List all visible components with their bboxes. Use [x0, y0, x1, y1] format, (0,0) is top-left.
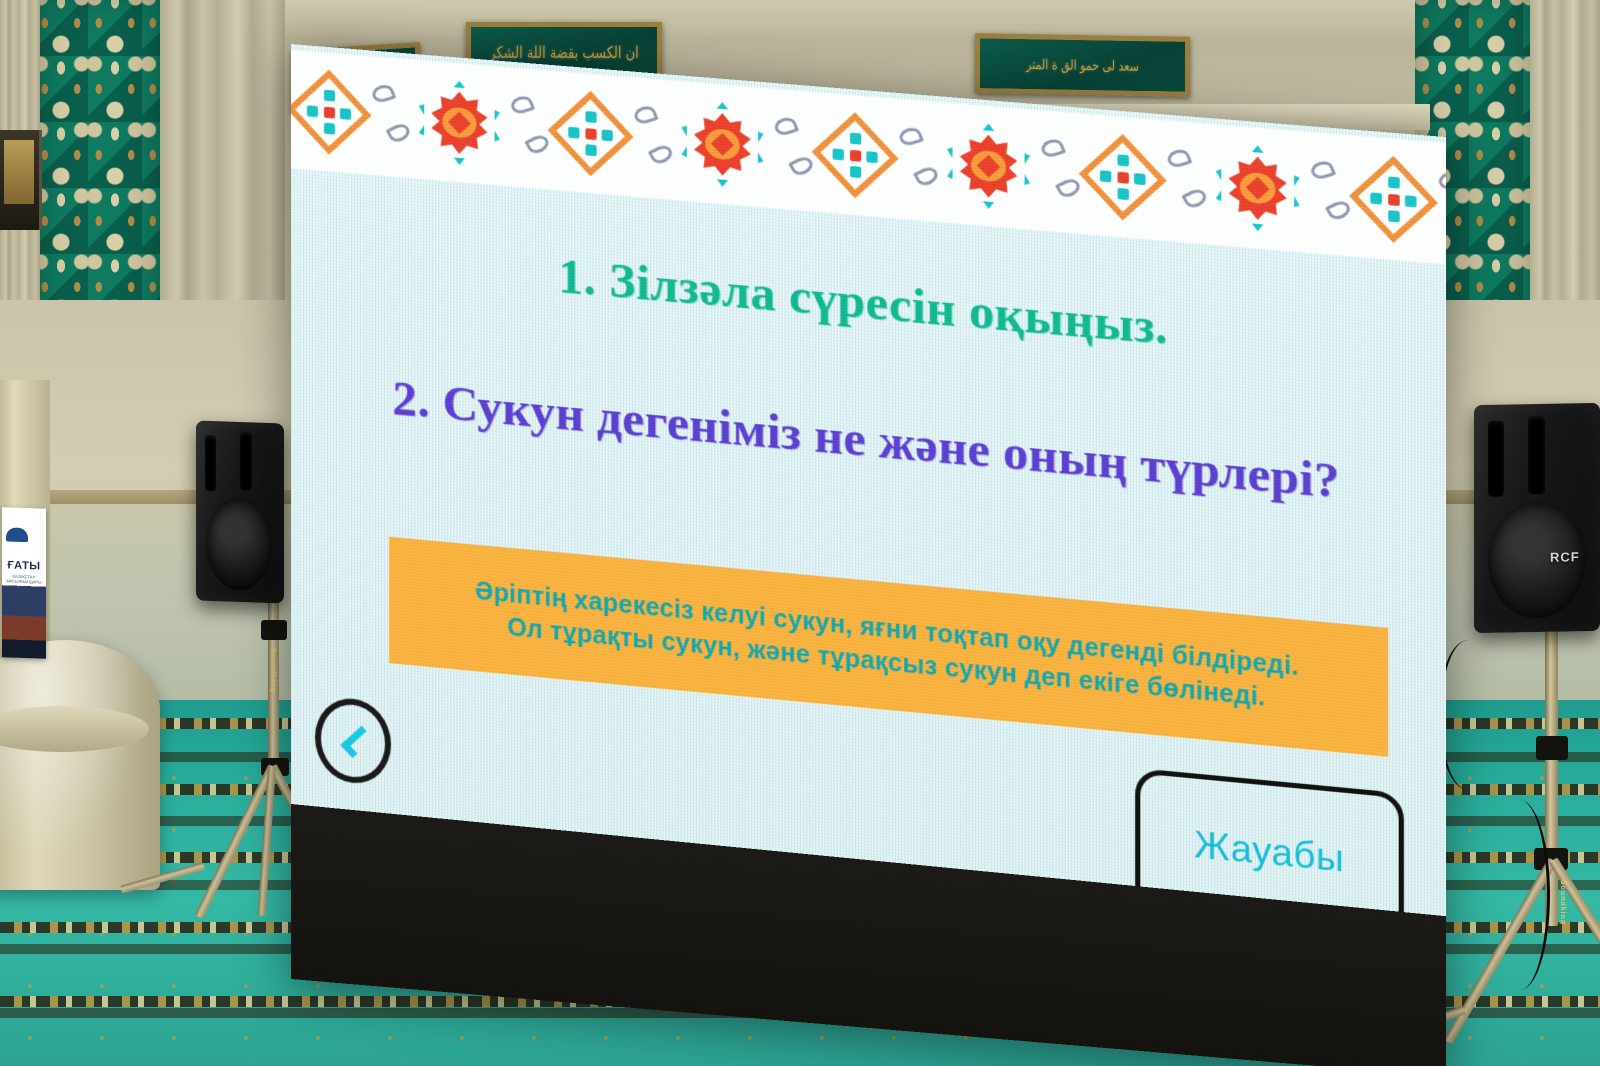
marble-column-base [0, 640, 160, 890]
speaker-port [1488, 421, 1504, 497]
diamond-dot [306, 105, 317, 117]
stand-clamp [1536, 736, 1568, 760]
diamond-dot [1134, 173, 1145, 185]
banner-title: ҒАТЫ [2, 559, 46, 573]
stand-brand-label: Soundking [1559, 880, 1566, 925]
speaker-cable [1490, 800, 1550, 990]
diamond-dot [584, 111, 595, 123]
filler-motif [770, 109, 815, 192]
diamond-dot [584, 144, 595, 156]
diamond-ornament [818, 116, 892, 195]
ornament-group [1083, 129, 1353, 241]
diamond-dot [866, 151, 877, 163]
diamond-dot [1117, 154, 1128, 166]
diamond-dot [832, 148, 843, 160]
chevron-left-icon [339, 726, 372, 758]
diamond-ornament [1355, 159, 1430, 239]
diamond-dot [1117, 188, 1128, 200]
diamond-dot [849, 166, 860, 178]
diamond-dot [1404, 195, 1416, 207]
diamond-dot [849, 133, 860, 145]
wall-soffit [270, 0, 1430, 36]
star-medallion-ornament [943, 118, 1034, 215]
pa-speaker-left [196, 420, 284, 603]
banner-subtitle: ҚАЗАҚСТАН МҰСЫЛМАНДАРЫ [2, 573, 46, 585]
answer-button-label: Жауабы [1194, 823, 1344, 880]
diamond-center-dot [849, 149, 860, 161]
question-2-text: 2. Сукун дегеніміз не және оның түрлері? [379, 366, 1354, 514]
answer-box: Әріптің харекесіз келуі сукун, яғни тоқт… [389, 537, 1388, 757]
diamond-dot [601, 129, 612, 141]
filler-motif [1306, 152, 1352, 236]
diamond-center-dot [1387, 193, 1399, 205]
diamond-ornament [293, 73, 365, 151]
star-medallion-ornament [1211, 140, 1303, 237]
speaker-port [1528, 416, 1545, 494]
filler-motif [895, 119, 940, 202]
diamond-dot [568, 126, 579, 138]
diamond-ornament [554, 94, 627, 172]
filler-motif [506, 88, 550, 170]
diamond-dot [340, 108, 351, 120]
filler-motif [1036, 131, 1081, 214]
star-medallion-ornament [677, 96, 767, 192]
diamond-dot [1370, 192, 1382, 204]
filler-motif [1163, 141, 1209, 224]
diamond-center-dot [1117, 171, 1128, 183]
stand-brand-label: Soundking [269, 648, 276, 693]
diamond-dot [323, 123, 334, 135]
rollup-banner: ҒАТЫ ҚАЗАҚСТАН МҰСЫЛМАНДАРЫ [2, 507, 46, 659]
diamond-dot [1387, 210, 1399, 222]
filler-motif [368, 76, 412, 158]
ornament-group [291, 65, 552, 175]
star-medallion-ornament [415, 75, 504, 171]
rcf-logo: RCF [1550, 549, 1580, 565]
ornament-group [816, 108, 1083, 219]
filler-motif [1434, 163, 1446, 247]
banner-logo-icon [6, 527, 28, 542]
back-button[interactable] [314, 695, 390, 786]
diamond-dot [1099, 170, 1110, 182]
pa-speaker-right: RCF [1474, 403, 1600, 633]
ornament-group [1353, 151, 1445, 264]
led-screen: 1. Зілзәла сүресін оқыңыз. 2. Сукун деге… [286, 44, 1418, 964]
diamond-center-dot [584, 128, 595, 140]
diamond-ornament [1085, 138, 1160, 217]
speaker-port [240, 432, 252, 490]
wall-lamp-glow [4, 140, 34, 204]
led-display-surface: 1. Зілзәла сүресін оқыңыз. 2. Сукун деге… [291, 44, 1446, 916]
diamond-center-dot [323, 106, 334, 118]
speaker-woofer [206, 497, 272, 591]
stand-clamp [261, 620, 287, 640]
ornament-group [552, 86, 816, 196]
speaker-cable [1438, 640, 1498, 790]
filler-motif [630, 98, 675, 180]
diamond-dot [1387, 176, 1399, 188]
diamond-dot [323, 90, 334, 102]
speaker-port [205, 435, 216, 491]
slide-content: 1. Зілзәла сүресін оқыңыз. 2. Сукун деге… [291, 168, 1446, 916]
